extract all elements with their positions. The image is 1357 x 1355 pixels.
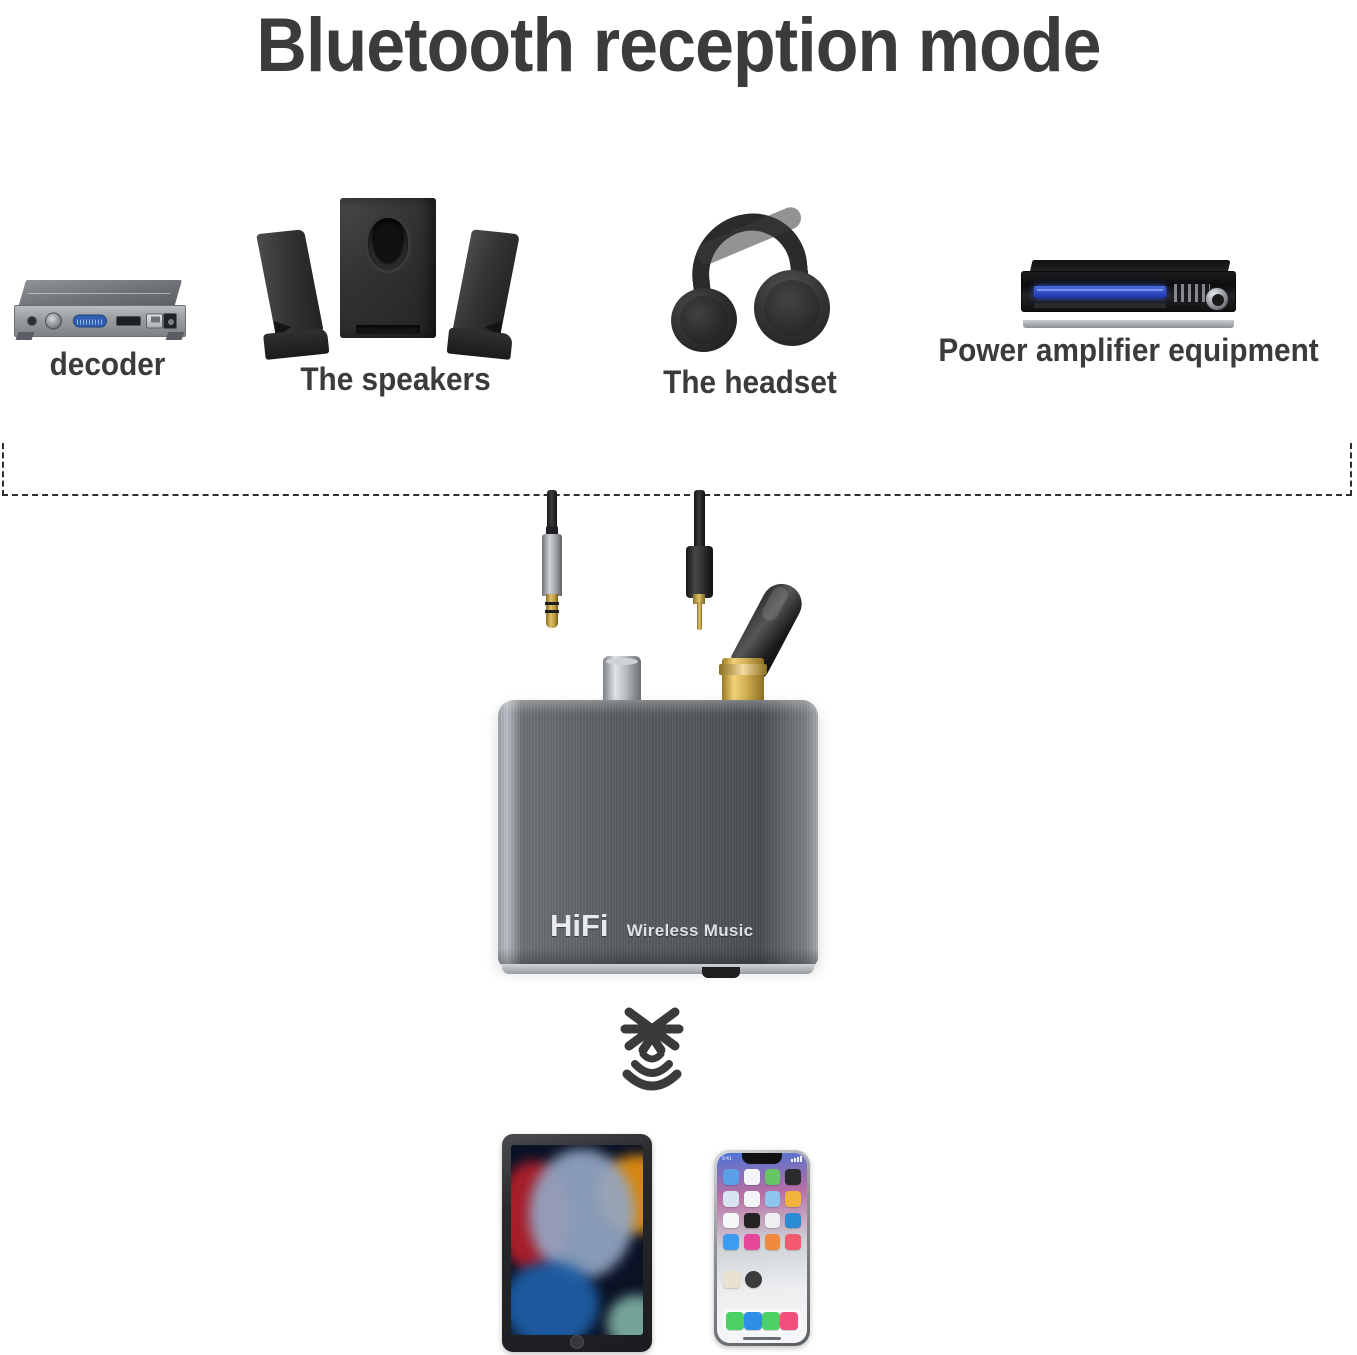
phone-screen: 9:41 [717,1153,807,1343]
wallpaper-blob [529,1149,635,1279]
phone-status-time: 9:41 [722,1156,732,1162]
headphones-icon [625,210,875,360]
phone-app-icon[interactable] [744,1234,760,1250]
decoder-box-icon [0,280,215,342]
decoder-audio-jack-icon [27,316,37,326]
rca-connector-icon [603,656,641,704]
phone-app-row-extra [723,1271,762,1288]
phone-app-icon[interactable] [723,1169,739,1185]
output-devices-boundary [2,443,1352,496]
phone-app-icon[interactable] [723,1191,739,1207]
tablet-screen [511,1145,643,1335]
satellite-speaker-left-icon [253,228,330,360]
phone-app-icon[interactable] [785,1169,801,1185]
output-device-headset[interactable]: The headset [625,210,875,401]
output-device-label: The speakers [263,361,528,398]
sma-connector-icon [722,658,764,704]
speaker-system-icon [253,182,538,357]
amplifier-volume-knob-icon[interactable] [1205,287,1229,311]
phone-app-icon[interactable] [785,1234,801,1250]
page-title: Bluetooth reception mode [54,2,1302,89]
phone-app-icon[interactable] [765,1191,781,1207]
bluetooth-audio-receiver[interactable]: HiFi Wireless Music [498,700,818,970]
amplifier-display-icon [1034,286,1166,298]
phone-app-icon[interactable] [744,1169,760,1185]
bluetooth-source-devices: 9:41 [490,1128,820,1355]
phone-app-icon[interactable] [765,1213,781,1229]
phone-app-icon[interactable] [785,1191,801,1207]
3-5mm-jack-icon [538,490,566,640]
phone-dock-icon[interactable] [744,1312,762,1330]
receiver-branding: HiFi Wireless Music [550,908,753,944]
phone-dock [723,1309,801,1333]
signal-bars-icon [791,1156,802,1162]
decoder-bnc-port-icon [45,313,62,330]
phone-app-icon[interactable] [723,1271,740,1288]
phone-app-icon[interactable] [745,1271,762,1288]
output-device-label: Power amplifier equipment [916,332,1341,369]
wallpaper-blob [607,1295,643,1335]
phone-home-indicator-icon [743,1337,781,1340]
av-amplifier-icon [900,260,1357,328]
smartphone-icon[interactable]: 9:41 [714,1150,810,1346]
decoder-hdmi-port-icon [116,316,141,326]
output-device-label: decoder [8,346,208,383]
phone-app-icon[interactable] [785,1213,801,1229]
decoder-vga-port-icon [73,315,107,328]
subwoofer-icon [340,198,436,338]
receiver-tagline: Wireless Music [627,921,754,941]
phone-app-icon[interactable] [765,1169,781,1185]
bluetooth-signal-icon [609,998,705,1094]
output-device-speakers[interactable]: The speakers [253,182,538,398]
decoder-power-jack-icon [163,313,177,329]
output-device-decoder[interactable]: decoder [0,280,215,383]
output-device-label: The headset [634,364,867,401]
phone-app-icon[interactable] [744,1191,760,1207]
phone-dock-icon[interactable] [726,1312,744,1330]
phone-app-grid [723,1169,801,1250]
output-device-amplifier[interactable]: Power amplifier equipment [900,260,1357,369]
receiver-brand-name: HiFi [550,908,609,944]
phone-dock-icon[interactable] [780,1312,798,1330]
phone-app-icon[interactable] [765,1234,781,1250]
output-devices-row: decoder The speakers [0,170,1357,400]
decoder-ethernet-port-icon [146,314,163,329]
rca-coax-jack-icon [684,490,714,640]
phone-dock-icon[interactable] [762,1312,780,1330]
satellite-speaker-right-icon [447,228,524,360]
phone-app-icon[interactable] [723,1234,739,1250]
tablet-icon[interactable] [502,1134,652,1352]
phone-notch-icon [742,1153,782,1164]
phone-app-icon[interactable] [744,1213,760,1229]
phone-app-icon[interactable] [723,1213,739,1229]
tablet-home-button-icon[interactable] [570,1335,584,1349]
